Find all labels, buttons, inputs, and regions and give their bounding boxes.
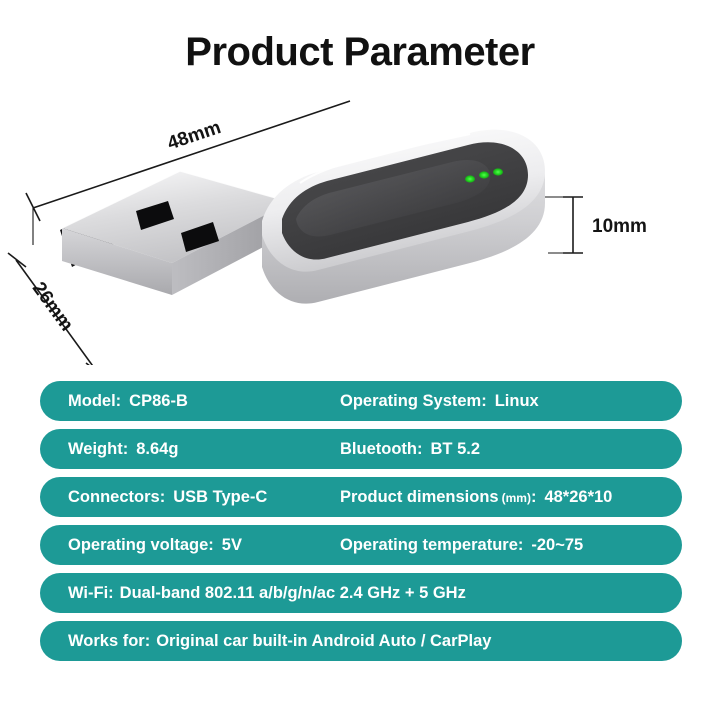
spec-colon: : [531,489,537,506]
spec-cell-wifi: Wi-Fi: Dual-band 802.11 a/b/g/n/ac 2.4 G… [68,585,466,602]
spec-cell-operating-temperature: Operating temperature: -20~75 [340,537,583,554]
spec-colon: : [108,585,114,602]
spec-row: Wi-Fi: Dual-band 802.11 a/b/g/n/ac 2.4 G… [40,573,682,613]
spec-unit: (mm) [502,492,531,504]
spec-key: Operating voltage [68,537,208,554]
spec-value: USB Type-C [173,489,267,506]
dimension-label-48mm: 48mm [165,117,224,154]
spec-value: 5V [222,537,242,554]
spec-table: Model: CP86-B Operating System: Linux We… [40,381,682,669]
led-dot-2 [479,171,489,178]
spec-key: Operating System [340,393,481,410]
spec-value: BT 5.2 [430,441,480,458]
spec-key: Works for [68,633,145,650]
spec-key: Bluetooth [340,441,417,458]
spec-colon: : [116,393,122,410]
spec-value: -20~75 [531,537,583,554]
page-title: Product Parameter [0,30,720,75]
spec-key: Weight [68,441,123,458]
spec-key: Connectors [68,489,160,506]
product-figure: 48mm 26mm 10mm [0,95,720,365]
spec-value: CP86-B [129,393,188,410]
spec-cell-product-dimensions: Product dimensions(mm): 48*26*10 [340,489,612,506]
spec-cell-bluetooth: Bluetooth: BT 5.2 [340,441,480,458]
spec-cell-operating-system: Operating System: Linux [340,393,539,410]
spec-value: Original car built-in Android Auto / Car… [156,633,491,650]
spec-row: Works for: Original car built-in Android… [40,621,682,661]
spec-colon: : [417,441,423,458]
spec-row: Operating voltage: 5V Operating temperat… [40,525,682,565]
spec-key: Product dimensions [340,489,499,506]
spec-cell-connectors: Connectors: USB Type-C [68,489,267,506]
dongle-body [262,130,545,304]
spec-value: Linux [495,393,539,410]
spec-colon: : [145,633,151,650]
spec-cell-operating-voltage: Operating voltage: 5V [68,537,242,554]
spec-key: Operating temperature [340,537,518,554]
spec-key: Wi-Fi [68,585,108,602]
spec-key: Model [68,393,116,410]
spec-cell-model: Model: CP86-B [68,393,188,410]
led-dot-1 [465,175,475,182]
spec-value: 48*26*10 [544,489,612,506]
led-dot-3 [493,168,503,175]
spec-row: Model: CP86-B Operating System: Linux [40,381,682,421]
spec-colon: : [208,537,214,554]
spec-cell-weight: Weight: 8.64g [68,441,178,458]
spec-cell-works-for: Works for: Original car built-in Android… [68,633,491,650]
spec-colon: : [518,537,524,554]
product-parameter-page: Product Parameter [0,0,720,720]
dimension-label-26mm: 26mm [28,278,77,335]
spec-colon: : [160,489,166,506]
spec-value: 8.64g [136,441,178,458]
spec-value: Dual-band 802.11 a/b/g/n/ac 2.4 GHz + 5 … [120,585,466,602]
spec-colon: : [123,441,129,458]
spec-colon: : [481,393,487,410]
spec-row: Weight: 8.64g Bluetooth: BT 5.2 [40,429,682,469]
usb-connector [60,171,290,295]
spec-row: Connectors: USB Type-C Product dimension… [40,477,682,517]
dimension-label-10mm: 10mm [592,216,647,237]
